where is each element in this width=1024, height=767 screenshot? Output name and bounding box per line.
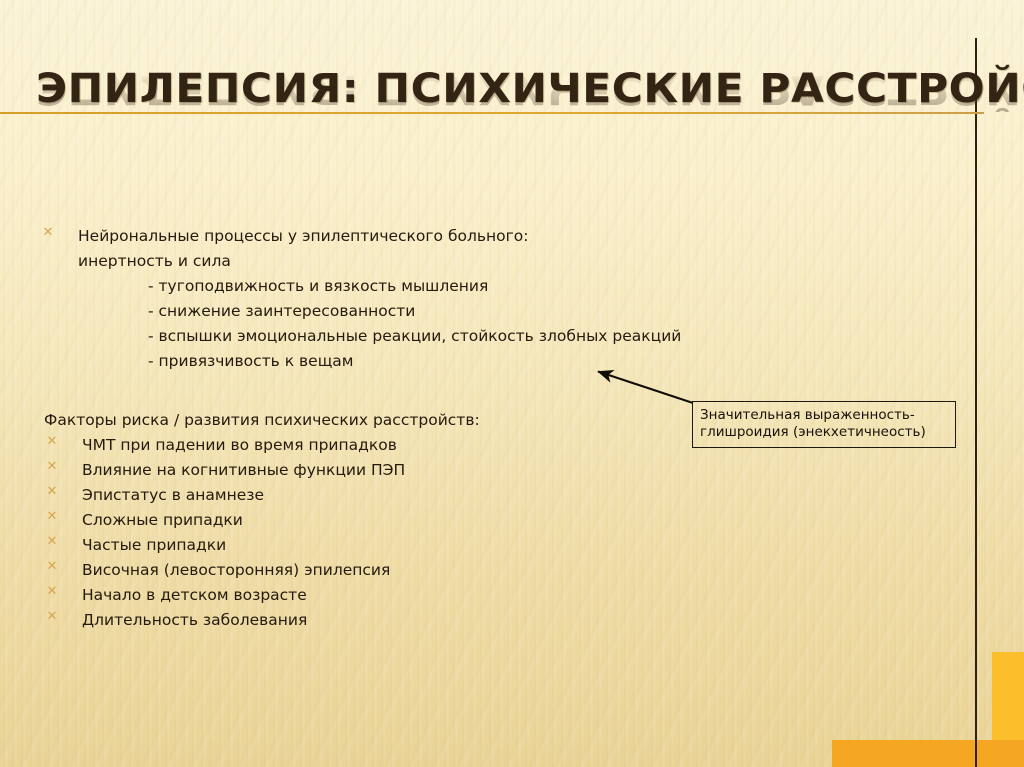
cross-bullet-icon: ✕ xyxy=(44,434,60,449)
list-item: ✕ Длительность заболевания xyxy=(40,608,740,633)
cross-bullet-icon: ✕ xyxy=(44,459,60,474)
list-item: ✕ Начало в детском возрасте xyxy=(40,583,740,608)
neuronal-processes-group: ✕ Нейрональные процессы у эпилептическог… xyxy=(40,224,920,374)
list-item: - привязчивость к вещам xyxy=(148,349,920,374)
cross-bullet-icon: ✕ xyxy=(44,584,60,599)
list-item: ✕ Височная (левосторонняя) эпилепсия xyxy=(40,558,740,583)
page-title: ЭПИЛЕПСИЯ: ПСИХИЧЕСКИЕ РАССТРОЙСТВА ЭПИЛ… xyxy=(36,66,976,156)
page-title-text: ЭПИЛЕПСИЯ: ПСИХИЧЕСКИЕ РАССТРОЙСТВА xyxy=(36,66,1024,112)
cross-bullet-icon: ✕ xyxy=(40,225,56,240)
list-item-label: ЧМТ при падении во время припадков xyxy=(82,436,397,454)
cross-bullet-icon: ✕ xyxy=(44,484,60,499)
callout-box: Значительная выраженность- глишроидия (э… xyxy=(692,401,956,448)
list-item: - тугоподвижность и вязкость мышления xyxy=(148,274,920,299)
cross-bullet-icon: ✕ xyxy=(44,559,60,574)
list-item-label: Нейрональные процессы у эпилептического … xyxy=(78,227,529,245)
list-item: ✕ Частые припадки xyxy=(40,533,740,558)
list-item: ✕ Нейрональные процессы у эпилептическог… xyxy=(40,224,920,249)
cross-bullet-icon: ✕ xyxy=(44,534,60,549)
list-item: ✕ Эпистатус в анамнезе xyxy=(40,483,740,508)
callout-arrow-icon xyxy=(585,358,705,416)
accent-band-orange xyxy=(832,740,1024,767)
list-item-label: Начало в детском возрасте xyxy=(82,586,307,604)
slide-canvas: ЭПИЛЕПСИЯ: ПСИХИЧЕСКИЕ РАССТРОЙСТВА ЭПИЛ… xyxy=(0,0,1024,767)
list-item-label: Длительность заболевания xyxy=(82,611,307,629)
list-item-label: Височная (левосторонняя) эпилепсия xyxy=(82,561,390,579)
risk-factors-group: Факторы риска / развития психических рас… xyxy=(40,408,740,633)
list-item: - снижение заинтересованности xyxy=(148,299,920,324)
list-item-label: Эпистатус в анамнезе xyxy=(82,486,264,504)
callout-line-1: Значительная выраженность- xyxy=(700,407,948,424)
accent-block-orange xyxy=(992,652,1024,740)
list-item: ✕ Влияние на когнитивные функции ПЭП xyxy=(40,458,740,483)
cross-bullet-icon: ✕ xyxy=(44,609,60,624)
list-item-label: Сложные припадки xyxy=(82,511,243,529)
list-item: ✕ Сложные припадки xyxy=(40,508,740,533)
list-item-continuation: инертность и сила xyxy=(78,249,920,274)
cross-bullet-icon: ✕ xyxy=(44,509,60,524)
list-item-label: Частые припадки xyxy=(82,536,226,554)
list-item: ✕ ЧМТ при падении во время припадков xyxy=(40,433,740,458)
callout-line-2: глишроидия (энекхетичнеость) xyxy=(700,424,948,441)
list-item: - вспышки эмоциональные реакции, стойкос… xyxy=(148,324,920,349)
list-item-label: Влияние на когнитивные функции ПЭП xyxy=(82,461,405,479)
